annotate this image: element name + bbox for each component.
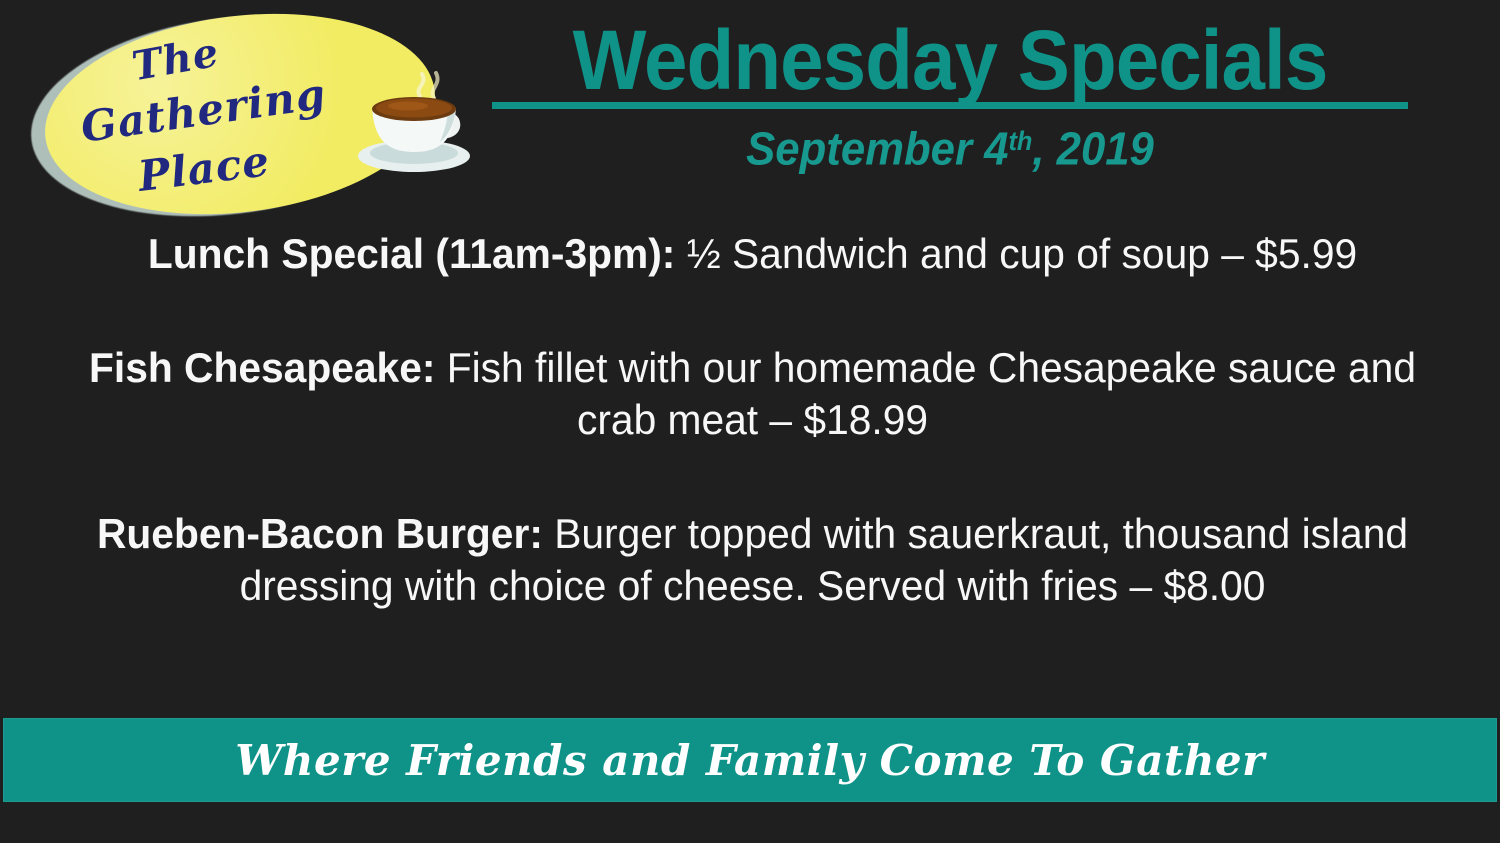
footer-tagline: Where Friends and Family Come To Gather [235,736,1264,785]
coffee-cup-icon [348,70,480,182]
special-description: ½ Sandwich and cup of soup – $5.99 [675,230,1357,277]
special-name: Fish Chesapeake: [89,344,435,391]
page-title: Wednesday Specials [504,14,1397,106]
date-ordinal: th [1008,126,1032,156]
footer-banner: Where Friends and Family Come To Gather [3,718,1497,802]
slide-date: September 4th, 2019 [494,115,1406,175]
specials-list: Lunch Special (11am-3pm): ½ Sandwich and… [60,228,1445,612]
date-prefix: September 4 [746,123,1008,175]
special-item: Fish Chesapeake: Fish fillet with our ho… [81,342,1424,446]
special-item: Lunch Special (11am-3pm): ½ Sandwich and… [81,228,1424,280]
restaurant-logo: The Gathering Place [22,8,452,223]
specials-slide: The Gathering Place Wednesday Specials S… [0,0,1500,843]
special-name: Rueben-Bacon Burger: [97,510,543,557]
slide-header: Wednesday Specials September 4th, 2019 [470,14,1430,175]
date-suffix: , 2019 [1032,123,1154,175]
special-description: Fish fillet with our homemade Chesapeake… [435,344,1416,443]
special-name: Lunch Special (11am-3pm): [148,230,675,277]
special-item: Rueben-Bacon Burger: Burger topped with … [81,508,1424,612]
